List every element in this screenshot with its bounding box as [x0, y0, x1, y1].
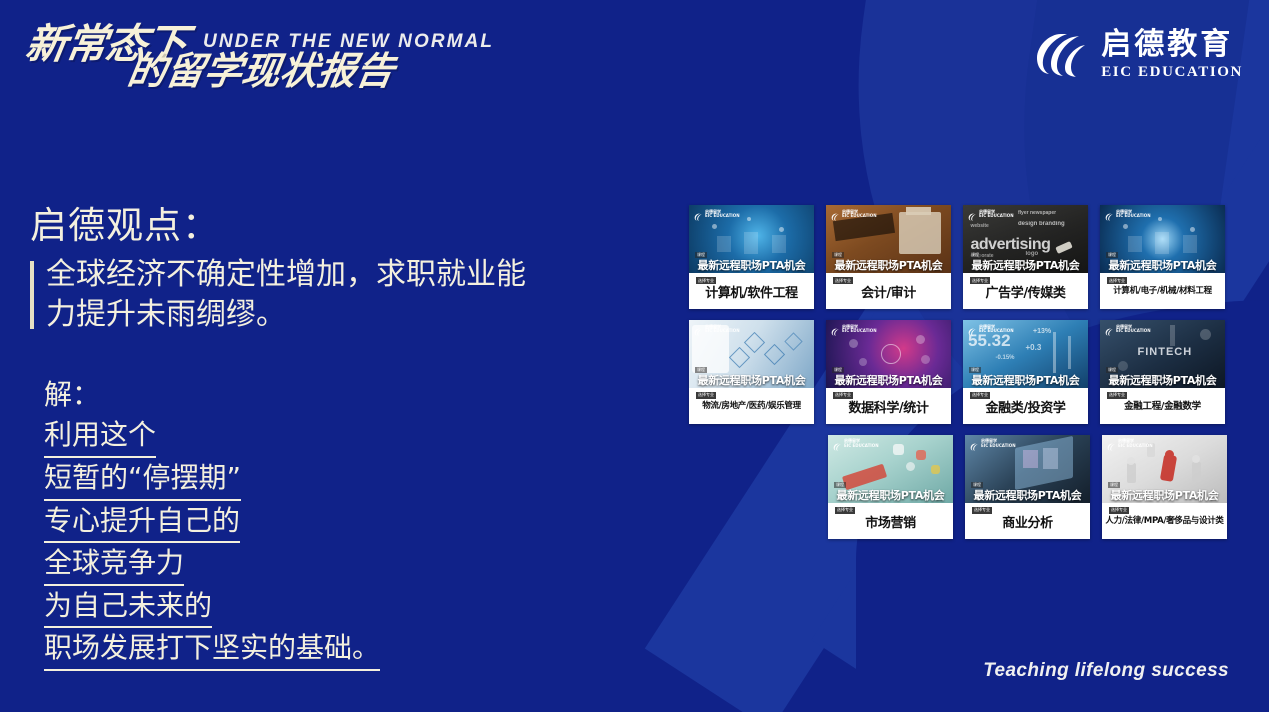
card-title: 金融类/投资学 — [986, 402, 1066, 417]
eic-swoosh-logo-icon — [832, 439, 842, 449]
card-grid-row: 启德留学EIC EDUCATION课程最新远程职场PTA机会选择专业物流/房地产… — [689, 320, 1249, 424]
course-card[interactable]: 启德留学EIC EDUCATION课程最新远程职场PTA机会选择专业人力/法律/… — [1102, 435, 1227, 539]
card-brand-text: 启德留学EIC EDUCATION — [705, 210, 740, 219]
card-body: 选择专业计算机/软件工程 — [689, 273, 814, 309]
card-image-chip: 课程 — [695, 252, 707, 258]
solution-line: 全球竞争力 — [44, 543, 184, 586]
card-image-chip: 课程 — [832, 252, 844, 258]
eic-swoosh-logo-icon — [1104, 324, 1114, 334]
card-category-chip: 选择专业 — [1107, 392, 1127, 399]
card-image-banner: 最新远程职场PTA机会 — [963, 260, 1088, 272]
card-image: 启德留学EIC EDUCATION课程最新远程职场PTA机会 — [828, 435, 953, 503]
logo-cn: 启德教育 — [1101, 30, 1233, 60]
card-image-chip: 课程 — [834, 482, 846, 488]
course-card[interactable]: 55.32+13%+0.3-0.15%启德留学EIC EDUCATION课程最新… — [963, 320, 1088, 424]
course-card[interactable]: advertisingflyer newspaperdesign brandin… — [963, 205, 1088, 309]
card-body: 选择专业金融工程/金融数学 — [1100, 388, 1225, 420]
card-image-chip: 课程 — [971, 482, 983, 488]
card-image: FINTECH启德留学EIC EDUCATION课程最新远程职场PTA机会 — [1100, 320, 1225, 388]
card-image-banner: 最新远程职场PTA机会 — [1102, 490, 1227, 502]
card-body: 选择专业广告学/传媒类 — [963, 273, 1088, 309]
card-image-banner: 最新远程职场PTA机会 — [1100, 260, 1225, 272]
slide: 新常态下 的留学现状报告 UNDER THE NEW NORMAL 启德教育 E… — [0, 0, 1269, 712]
card-body: 选择专业计算机/电子/机械/材料工程 — [1100, 273, 1225, 304]
card-image-banner: 最新远程职场PTA机会 — [826, 375, 951, 387]
card-brand-chip: 启德留学EIC EDUCATION — [693, 209, 740, 219]
card-body: 选择专业市场营销 — [828, 503, 953, 539]
eic-swoosh-logo-icon — [967, 324, 977, 334]
card-brand-chip: 启德留学EIC EDUCATION — [969, 439, 1016, 449]
viewpoint-body: 全球经济不确定性增加，求职就业能力提升未雨绸缪。 — [30, 255, 550, 335]
card-grid-row: 启德留学EIC EDUCATION课程最新远程职场PTA机会选择专业市场营销启德… — [828, 435, 1249, 539]
card-image: 启德留学EIC EDUCATION课程最新远程职场PTA机会 — [689, 320, 814, 388]
card-title: 计算机/电子/机械/材料工程 — [1113, 287, 1212, 297]
card-image-chip: 课程 — [1106, 252, 1118, 258]
eic-swoosh-logo-icon — [1106, 439, 1116, 449]
card-image-chip: 课程 — [969, 252, 981, 258]
card-grid-row: 启德留学EIC EDUCATION课程最新远程职场PTA机会选择专业计算机/软件… — [689, 205, 1249, 309]
card-image-banner: 最新远程职场PTA机会 — [689, 260, 814, 272]
course-card[interactable]: 启德留学EIC EDUCATION课程最新远程职场PTA机会选择专业商业分析 — [965, 435, 1090, 539]
eic-swoosh-logo-icon — [969, 439, 979, 449]
solution-line: 短暂的“停摆期” — [44, 458, 241, 501]
eic-swoosh-logo-icon — [830, 209, 840, 219]
card-title: 数据科学/统计 — [849, 402, 929, 417]
eic-swoosh-logo-icon — [1104, 209, 1114, 219]
card-image-chip: 课程 — [969, 367, 981, 373]
card-image-banner: 最新远程职场PTA机会 — [689, 375, 814, 387]
card-brand-text: 启德留学EIC EDUCATION — [705, 325, 740, 334]
card-body: 选择专业数据科学/统计 — [826, 388, 951, 424]
footer-tagline: Teaching lifelong success — [983, 660, 1229, 682]
card-category-chip: 选择专业 — [1107, 277, 1127, 284]
title-en: UNDER THE NEW NORMAL — [203, 31, 494, 53]
card-image-banner: 最新远程职场PTA机会 — [965, 490, 1090, 502]
card-brand-text: 启德留学EIC EDUCATION — [842, 325, 877, 334]
course-card[interactable]: 启德留学EIC EDUCATION课程最新远程职场PTA机会选择专业会计/审计 — [826, 205, 951, 309]
card-brand-chip: 启德留学EIC EDUCATION — [830, 209, 877, 219]
card-body: 选择专业会计/审计 — [826, 273, 951, 309]
solution-line: 利用这个 — [44, 415, 156, 458]
card-image-chip: 课程 — [1108, 482, 1120, 488]
solution-block: 解： 利用这个 短暂的“停摆期” 专心提升自己的 全球竞争力 为自己未来的 职场… — [30, 375, 550, 671]
card-brand-text: 启德留学EIC EDUCATION — [842, 210, 877, 219]
eic-swoosh-logo-icon — [693, 209, 703, 219]
card-brand-chip: 启德留学EIC EDUCATION — [1104, 324, 1151, 334]
card-title: 商业分析 — [1002, 517, 1052, 532]
eic-swoosh-logo-icon — [693, 324, 703, 334]
card-image: 启德留学EIC EDUCATION课程最新远程职场PTA机会 — [689, 205, 814, 273]
solution-line: 专心提升自己的 — [44, 501, 240, 544]
card-image-banner: 最新远程职场PTA机会 — [826, 260, 951, 272]
solution-line: 为自己未来的 — [44, 586, 212, 629]
course-card[interactable]: 启德留学EIC EDUCATION课程最新远程职场PTA机会选择专业物流/房地产… — [689, 320, 814, 424]
card-brand-chip: 启德留学EIC EDUCATION — [693, 324, 740, 334]
eic-swoosh-logo-icon — [1027, 24, 1089, 86]
card-image-banner: 最新远程职场PTA机会 — [828, 490, 953, 502]
course-card[interactable]: 启德留学EIC EDUCATION课程最新远程职场PTA机会选择专业计算机/电子… — [1100, 205, 1225, 309]
card-image-banner: 最新远程职场PTA机会 — [1100, 375, 1225, 387]
card-brand-chip: 启德留学EIC EDUCATION — [967, 324, 1014, 334]
card-category-chip: 选择专业 — [835, 507, 855, 514]
card-title: 金融工程/金融数学 — [1124, 402, 1201, 413]
card-brand-text: 启德留学EIC EDUCATION — [1118, 439, 1153, 448]
course-card[interactable]: 启德留学EIC EDUCATION课程最新远程职场PTA机会选择专业数据科学/统… — [826, 320, 951, 424]
course-card[interactable]: 启德留学EIC EDUCATION课程最新远程职场PTA机会选择专业计算机/软件… — [689, 205, 814, 309]
card-brand-text: 启德留学EIC EDUCATION — [979, 325, 1014, 334]
card-title: 物流/房地产/医药/娱乐管理 — [702, 402, 801, 412]
card-body: 选择专业物流/房地产/医药/娱乐管理 — [689, 388, 814, 419]
card-image: 启德留学EIC EDUCATION课程最新远程职场PTA机会 — [965, 435, 1090, 503]
card-category-chip: 选择专业 — [970, 392, 990, 399]
card-category-chip: 选择专业 — [696, 277, 716, 284]
viewpoint-title: 启德观点： — [30, 195, 550, 249]
card-category-chip: 选择专业 — [696, 392, 716, 399]
card-image-banner: 最新远程职场PTA机会 — [963, 375, 1088, 387]
card-image-chip: 课程 — [695, 367, 707, 373]
card-image-chip: 课程 — [1106, 367, 1118, 373]
card-brand-chip: 启德留学EIC EDUCATION — [967, 209, 1014, 219]
card-image: 启德留学EIC EDUCATION课程最新远程职场PTA机会 — [1100, 205, 1225, 273]
card-brand-chip: 启德留学EIC EDUCATION — [830, 324, 877, 334]
card-brand-text: 启德留学EIC EDUCATION — [979, 210, 1014, 219]
logo-text: 启德教育 EIC EDUCATION — [1101, 30, 1243, 80]
card-category-chip: 选择专业 — [833, 277, 853, 284]
card-title: 广告学/传媒类 — [986, 287, 1066, 302]
title-cn-line2: 的留学现状报告 — [125, 52, 397, 90]
card-image: 启德留学EIC EDUCATION课程最新远程职场PTA机会 — [826, 320, 951, 388]
card-image: 启德留学EIC EDUCATION课程最新远程职场PTA机会 — [826, 205, 951, 273]
eic-swoosh-logo-icon — [830, 324, 840, 334]
card-body: 选择专业人力/法律/MPA/奢侈品与设计类 — [1102, 503, 1227, 534]
card-image: advertisingflyer newspaperdesign brandin… — [963, 205, 1088, 273]
card-brand-chip: 启德留学EIC EDUCATION — [1104, 209, 1151, 219]
card-brand-text: 启德留学EIC EDUCATION — [981, 439, 1016, 448]
brand-logo: 启德教育 EIC EDUCATION — [1027, 24, 1243, 86]
card-brand-text: 启德留学EIC EDUCATION — [844, 439, 879, 448]
card-category-chip: 选择专业 — [970, 277, 990, 284]
logo-en: EIC EDUCATION — [1101, 65, 1243, 80]
card-image: 55.32+13%+0.3-0.15%启德留学EIC EDUCATION课程最新… — [963, 320, 1088, 388]
course-card[interactable]: FINTECH启德留学EIC EDUCATION课程最新远程职场PTA机会选择专… — [1100, 320, 1225, 424]
course-card-grid: 启德留学EIC EDUCATION课程最新远程职场PTA机会选择专业计算机/软件… — [689, 205, 1249, 550]
card-category-chip: 选择专业 — [972, 507, 992, 514]
card-category-chip: 选择专业 — [1109, 507, 1129, 514]
card-image-chip: 课程 — [832, 367, 844, 373]
card-category-chip: 选择专业 — [833, 392, 853, 399]
card-title: 会计/审计 — [861, 287, 916, 302]
solution-label: 解： — [44, 375, 550, 416]
eic-swoosh-logo-icon — [967, 209, 977, 219]
solution-line: 职场发展打下坚实的基础。 — [44, 628, 380, 671]
slide-header: 新常态下 的留学现状报告 UNDER THE NEW NORMAL 启德教育 E… — [0, 0, 1269, 105]
card-image: 启德留学EIC EDUCATION课程最新远程职场PTA机会 — [1102, 435, 1227, 503]
card-title: 市场营销 — [865, 517, 915, 532]
solution-lines: 利用这个 短暂的“停摆期” 专心提升自己的 全球竞争力 为自己未来的 职场发展打… — [30, 415, 550, 671]
card-brand-text: 启德留学EIC EDUCATION — [1116, 325, 1151, 334]
card-brand-chip: 启德留学EIC EDUCATION — [1106, 439, 1153, 449]
left-content: 启德观点： 全球经济不确定性增加，求职就业能力提升未雨绸缪。 解： 利用这个 短… — [30, 195, 550, 671]
card-brand-chip: 启德留学EIC EDUCATION — [832, 439, 879, 449]
card-brand-text: 启德留学EIC EDUCATION — [1116, 210, 1151, 219]
card-body: 选择专业商业分析 — [965, 503, 1090, 539]
card-title: 人力/法律/MPA/奢侈品与设计类 — [1105, 517, 1223, 527]
course-card[interactable]: 启德留学EIC EDUCATION课程最新远程职场PTA机会选择专业市场营销 — [828, 435, 953, 539]
card-body: 选择专业金融类/投资学 — [963, 388, 1088, 424]
card-title: 计算机/软件工程 — [705, 287, 798, 302]
